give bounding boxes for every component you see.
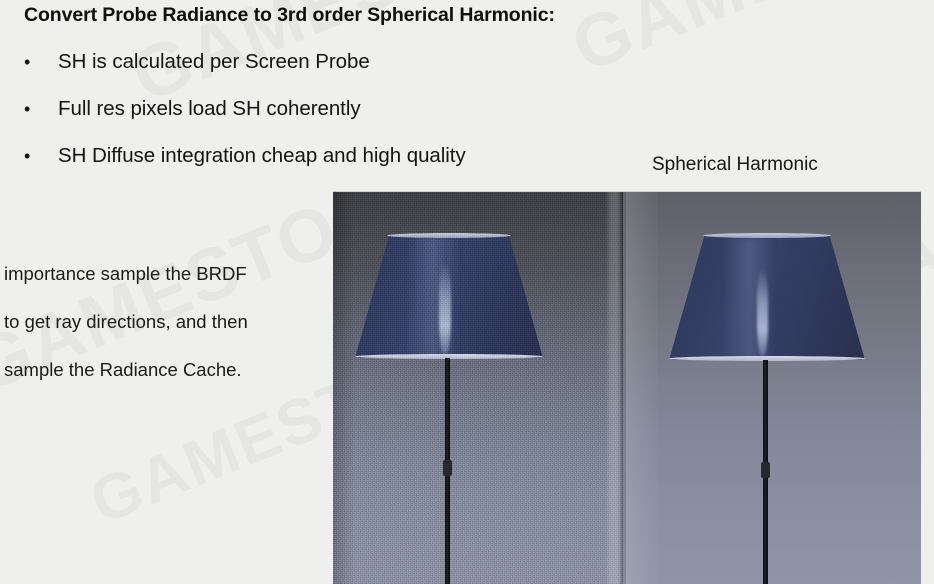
floor-lamp (647, 192, 921, 584)
list-item-label: SH is calculated per Screen Probe (58, 50, 370, 74)
bullet-marker-icon: • (24, 95, 58, 118)
side-paragraph-line: sample the Radiance Cache. (4, 358, 326, 382)
list-item: • Full res pixels load SH coherently (24, 95, 624, 142)
side-paragraph-line: to get ray directions, and then (4, 310, 326, 334)
lamp-pole-joint (761, 462, 770, 478)
lampshade-gloss-band (723, 238, 775, 358)
list-item-label: Full res pixels load SH coherently (58, 97, 361, 121)
panel-divider (621, 192, 626, 584)
spherical-harmonic-render-panel (623, 192, 921, 584)
page-title: Convert Probe Radiance to 3rd order Sphe… (24, 4, 555, 27)
bullet-marker-icon: • (24, 142, 58, 165)
bullet-list: • SH is calculated per Screen Probe • Fu… (24, 48, 624, 189)
side-paragraph: importance sample the BRDF to get ray di… (4, 262, 326, 383)
floor-lamp (347, 192, 623, 584)
list-item: • SH is calculated per Screen Probe (24, 48, 624, 95)
list-item-label: SH Diffuse integration cheap and high qu… (58, 144, 466, 168)
list-item: • SH Diffuse integration cheap and high … (24, 142, 624, 189)
lamp-pole-joint (443, 460, 452, 476)
side-paragraph-line: importance sample the BRDF (4, 262, 326, 286)
bullet-marker-icon: • (24, 48, 58, 71)
comparison-figure (333, 191, 921, 584)
comparison-caption: Spherical Harmonic (652, 154, 818, 176)
noisy-radiance-render-panel (333, 192, 623, 584)
lampshade-gloss-band (407, 238, 459, 356)
